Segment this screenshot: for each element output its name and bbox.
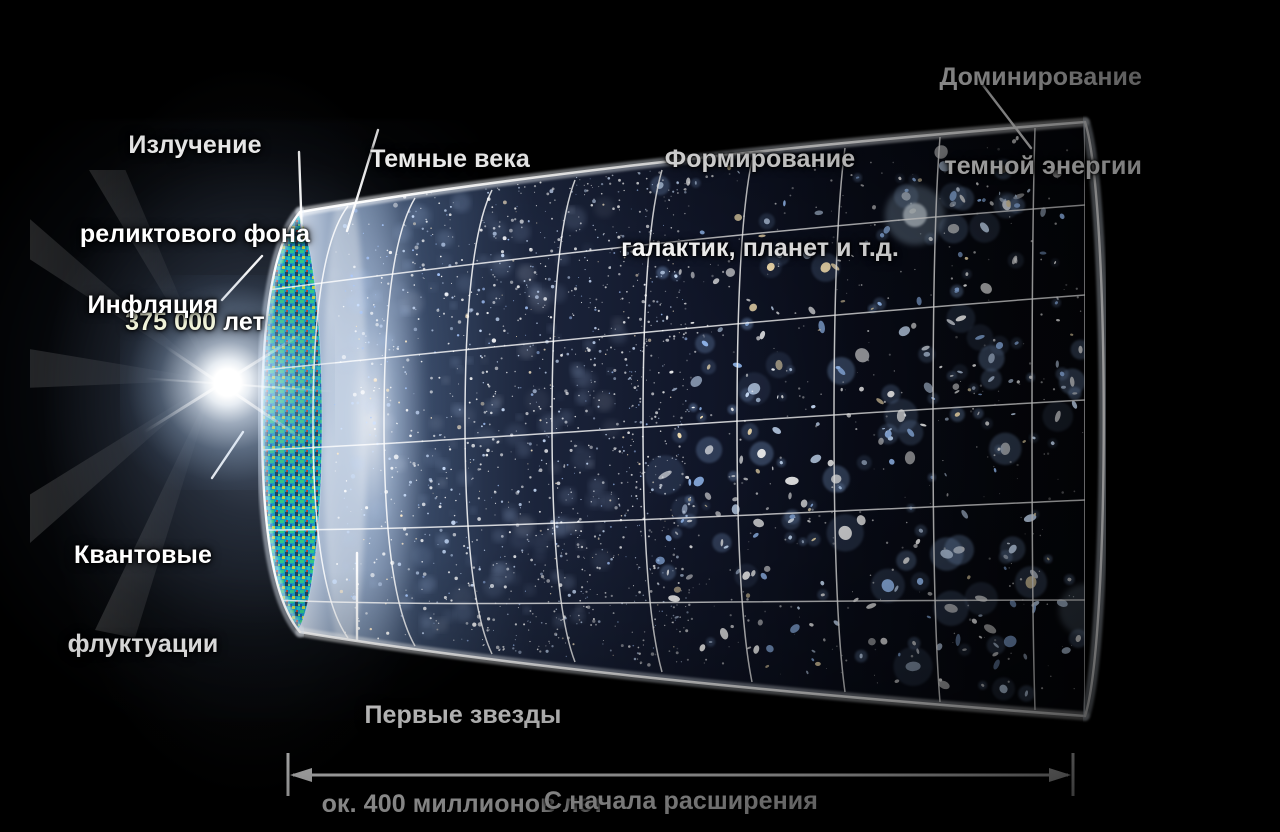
universe-expansion-diagram: Излучение реликтового фона 375 000 лет И… xyxy=(0,0,1280,832)
vignette xyxy=(0,0,1280,832)
